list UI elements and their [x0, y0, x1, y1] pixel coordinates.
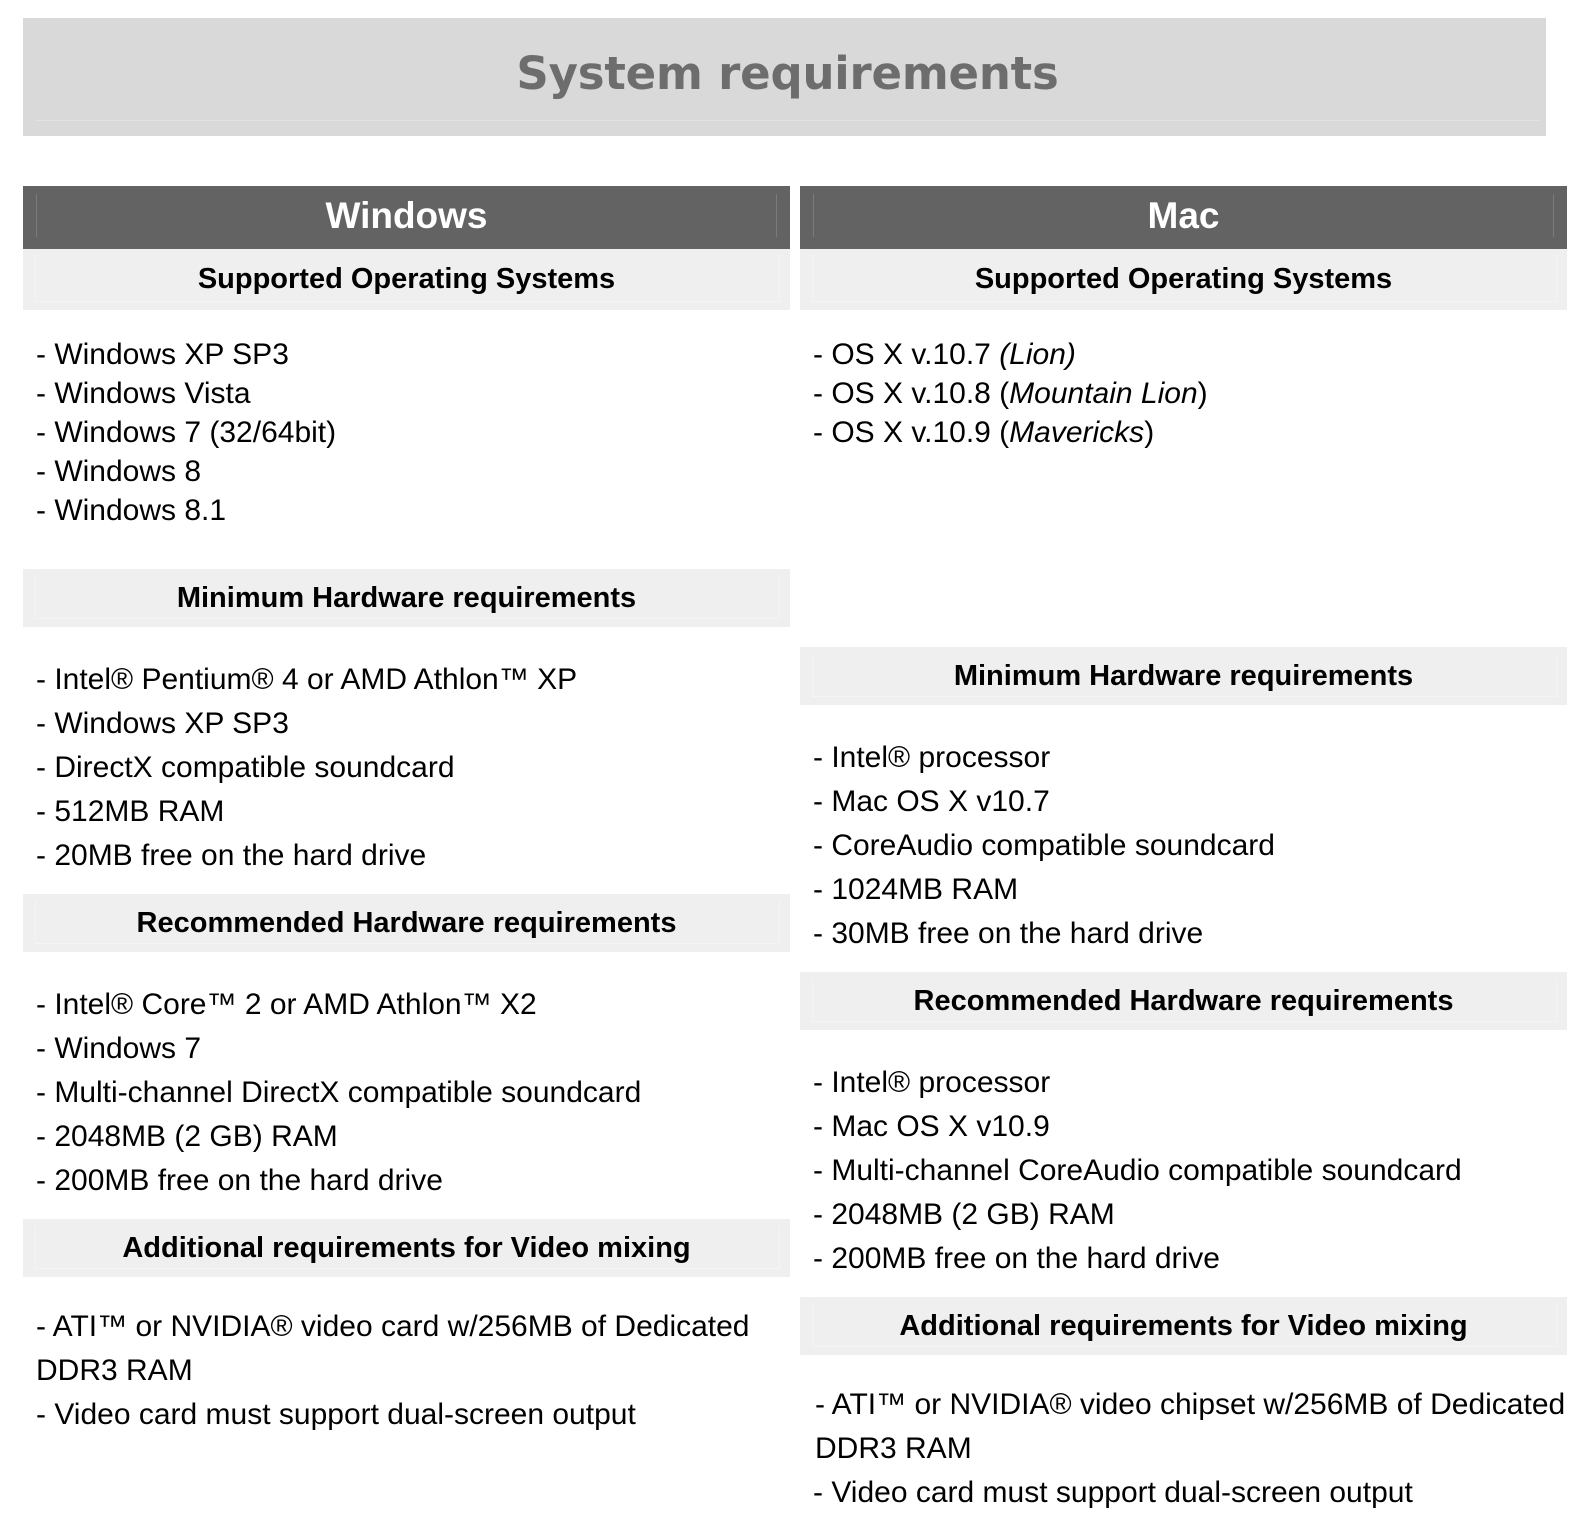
list-item: - Windows 8 — [36, 452, 790, 491]
section-heading-band-windows-rec: Recommended Hardware requirements — [23, 894, 790, 952]
page-title-banner: System requirements — [23, 18, 1546, 136]
list-item: - 1024MB RAM — [813, 868, 1567, 912]
list-item: - 2048MB (2 GB) RAM — [36, 1115, 790, 1159]
section-heading-windows-os: Supported Operating Systems — [198, 265, 615, 294]
section-heading-mac-rec: Recommended Hardware requirements — [914, 987, 1454, 1016]
section-heading-band-windows-video: Additional requirements for Video mixing — [23, 1219, 790, 1277]
section-windows-video: Additional requirements for Video mixing… — [23, 1219, 790, 1437]
list-item: - Mac OS X v10.9 — [813, 1105, 1567, 1149]
platform-header-windows-inner: Windows — [36, 194, 777, 237]
list-item: - Windows Vista — [36, 374, 790, 413]
list-item: - Mac OS X v10.7 — [813, 780, 1567, 824]
platform-header-windows: Windows — [23, 186, 790, 249]
list-item: - 20MB free on the hard drive — [36, 834, 790, 878]
page-title: System requirements — [516, 51, 1058, 96]
list-windows-rec: - Intel® Core™ 2 or AMD Athlon™ X2 - Win… — [23, 952, 790, 1203]
list-windows-video: - ATI™ or NVIDIA® video card w/256MB of … — [23, 1277, 790, 1437]
list-item: - ATI™ or NVIDIA® video card w/256MB of … — [36, 1305, 790, 1393]
section-heading-mac-video: Additional requirements for Video mixing — [899, 1312, 1467, 1341]
list-item: - 30MB free on the hard drive — [813, 912, 1567, 956]
list-item: - 512MB RAM — [36, 790, 790, 834]
column-mac: Mac Supported Operating Systems - OS X v… — [800, 186, 1567, 1506]
spacer — [800, 956, 1567, 972]
list-item: - OS X v.10.8 (Mountain Lion) — [813, 374, 1567, 413]
list-item: - Windows XP SP3 — [36, 702, 790, 746]
list-windows-os: - Windows XP SP3 - Windows Vista - Windo… — [23, 310, 790, 530]
list-item: - Video card must support dual-screen ou… — [36, 1393, 790, 1437]
system-requirements-page: System requirements Windows Supported Op… — [0, 0, 1590, 1524]
section-mac-video: Additional requirements for Video mixing… — [800, 1297, 1567, 1515]
list-item: - Multi-channel DirectX compatible sound… — [36, 1071, 790, 1115]
section-heading-band-mac-rec: Recommended Hardware requirements — [800, 972, 1567, 1030]
section-heading-band-mac-video: Additional requirements for Video mixing — [800, 1297, 1567, 1355]
platform-header-mac-inner: Mac — [813, 194, 1554, 237]
section-heading-band-mac-os: Supported Operating Systems — [800, 249, 1567, 310]
section-mac-min: Minimum Hardware requirements - Intel® p… — [800, 647, 1567, 956]
section-heading-band-mac-min: Minimum Hardware requirements — [800, 647, 1567, 705]
section-mac-rec: Recommended Hardware requirements - Inte… — [800, 972, 1567, 1281]
page-title-banner-inner: System requirements — [35, 27, 1540, 121]
spacer — [800, 1281, 1567, 1297]
list-item: - CoreAudio compatible soundcard — [813, 824, 1567, 868]
section-windows-min: Minimum Hardware requirements - Intel® P… — [23, 569, 790, 878]
spacer — [800, 452, 1567, 647]
list-mac-rec: - Intel® processor - Mac OS X v10.9 - Mu… — [800, 1030, 1567, 1281]
list-mac-min: - Intel® processor - Mac OS X v10.7 - Co… — [800, 705, 1567, 956]
list-item: - ATI™ or NVIDIA® video chipset w/256MB … — [813, 1383, 1567, 1471]
platform-header-mac: Mac — [800, 186, 1567, 249]
list-item: - DirectX compatible soundcard — [36, 746, 790, 790]
section-heading-windows-video: Additional requirements for Video mixing — [122, 1234, 690, 1263]
section-heading-band-windows-min: Minimum Hardware requirements — [23, 569, 790, 627]
list-windows-min: - Intel® Pentium® 4 or AMD Athlon™ XP - … — [23, 627, 790, 878]
list-item: - 200MB free on the hard drive — [36, 1159, 790, 1203]
section-windows-os: Supported Operating Systems - Windows XP… — [23, 249, 790, 530]
list-mac-video: - ATI™ or NVIDIA® video chipset w/256MB … — [800, 1355, 1567, 1515]
list-item: - OS X v.10.9 (Mavericks) — [813, 413, 1567, 452]
spacer — [23, 1203, 790, 1219]
section-heading-windows-min: Minimum Hardware requirements — [177, 584, 636, 613]
list-item: - Windows XP SP3 — [36, 335, 790, 374]
spacer — [23, 878, 790, 894]
list-item: - Intel® Core™ 2 or AMD Athlon™ X2 — [36, 983, 790, 1027]
list-mac-os: - OS X v.10.7 (Lion) - OS X v.10.8 (Moun… — [800, 310, 1567, 452]
section-heading-mac-min: Minimum Hardware requirements — [954, 662, 1413, 691]
spacer — [23, 530, 790, 569]
list-item: - 2048MB (2 GB) RAM — [813, 1193, 1567, 1237]
list-item: - Windows 8.1 — [36, 491, 790, 530]
list-item: - Intel® processor — [813, 736, 1567, 780]
list-item: - Video card must support dual-screen ou… — [813, 1471, 1567, 1515]
section-windows-rec: Recommended Hardware requirements - Inte… — [23, 894, 790, 1203]
section-heading-band-windows-os: Supported Operating Systems — [23, 249, 790, 310]
section-mac-os: Supported Operating Systems - OS X v.10.… — [800, 249, 1567, 452]
list-item: - Multi-channel CoreAudio compatible sou… — [813, 1149, 1567, 1193]
list-item: - Windows 7 (32/64bit) — [36, 413, 790, 452]
platform-title-mac: Mac — [1148, 197, 1220, 234]
list-item: - OS X v.10.7 (Lion) — [813, 335, 1567, 374]
requirements-table: Windows Supported Operating Systems - Wi… — [23, 186, 1567, 1506]
section-heading-windows-rec: Recommended Hardware requirements — [137, 909, 677, 938]
section-heading-mac-os: Supported Operating Systems — [975, 265, 1392, 294]
list-item: - Windows 7 — [36, 1027, 790, 1071]
list-item: - Intel® Pentium® 4 or AMD Athlon™ XP — [36, 658, 790, 702]
list-item: - 200MB free on the hard drive — [813, 1237, 1567, 1281]
list-item: - Intel® processor — [813, 1061, 1567, 1105]
column-windows: Windows Supported Operating Systems - Wi… — [23, 186, 790, 1506]
platform-title-windows: Windows — [325, 197, 487, 234]
